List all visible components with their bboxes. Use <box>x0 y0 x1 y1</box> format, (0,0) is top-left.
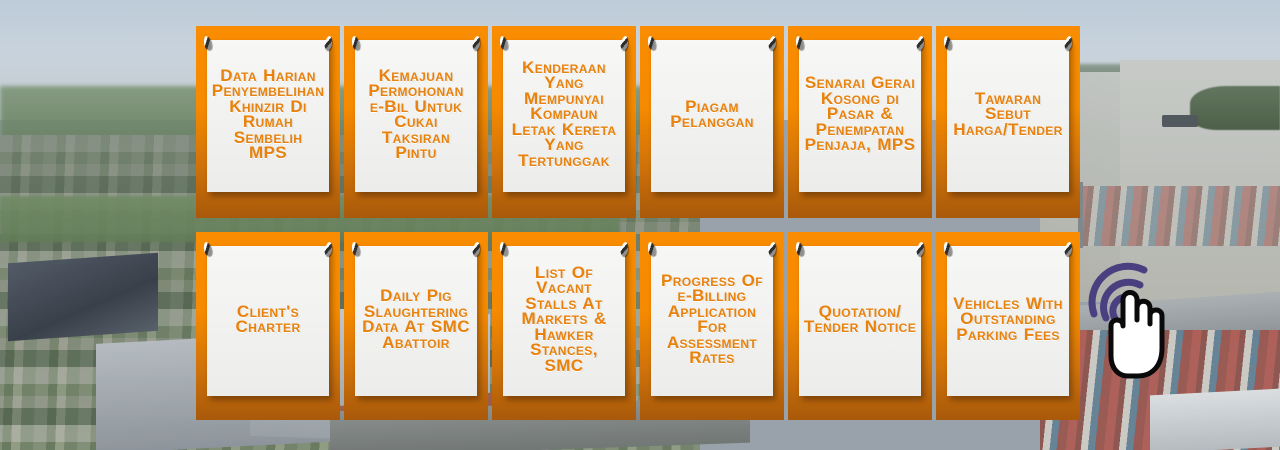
pin-icon <box>768 241 777 256</box>
service-card[interactable]: Kemajuan Permohonan e-Bil Untuk Cukai Ta… <box>344 26 488 218</box>
service-card[interactable]: List Of Vacant Stalls At Markets & Hawke… <box>492 232 636 420</box>
pin-icon <box>498 241 508 256</box>
card-sheet[interactable]: Progress Of e-Billing Application For As… <box>651 246 773 396</box>
card-sheet[interactable]: List Of Vacant Stalls At Markets & Hawke… <box>503 246 625 396</box>
service-card-grid: Data Harian Penyembelihan Khinzir Di Rum… <box>196 26 1080 420</box>
card-label: Quotation/ Tender Notice <box>804 304 916 335</box>
card-sheet[interactable]: Tawaran Sebut Harga/Tender <box>947 40 1069 192</box>
pin-icon <box>472 35 481 50</box>
service-card[interactable]: Quotation/ Tender Notice <box>788 232 932 420</box>
pin-icon <box>620 35 629 50</box>
pin-icon <box>768 35 777 50</box>
card-sheet[interactable]: Piagam Pelanggan <box>651 40 773 192</box>
pin-icon <box>916 241 925 256</box>
service-card[interactable]: Client's Charter <box>196 232 340 420</box>
card-sheet[interactable]: Client's Charter <box>207 246 329 396</box>
pin-icon <box>620 241 629 256</box>
service-card[interactable]: Piagam Pelanggan <box>640 26 784 218</box>
card-sheet[interactable]: Data Harian Penyembelihan Khinzir Di Rum… <box>207 40 329 192</box>
pin-icon <box>1064 241 1073 256</box>
card-sheet[interactable]: Quotation/ Tender Notice <box>799 246 921 396</box>
pin-icon <box>202 35 212 50</box>
card-label: Piagam Pelanggan <box>656 99 768 130</box>
pin-icon <box>324 35 333 50</box>
pin-icon <box>794 35 804 50</box>
card-sheet[interactable]: Vehicles With Outstanding Parking Fees <box>947 246 1069 396</box>
card-label: Daily Pig Slaughtering Data At SMC Abatt… <box>360 288 472 350</box>
card-label: Progress Of e-Billing Application For As… <box>656 273 768 366</box>
pin-icon <box>472 241 481 256</box>
card-label: Kemajuan Permohonan e-Bil Untuk Cukai Ta… <box>360 68 472 161</box>
card-label: List Of Vacant Stalls At Markets & Hawke… <box>508 265 620 374</box>
pin-icon <box>350 241 360 256</box>
service-card[interactable]: Vehicles With Outstanding Parking Fees <box>936 232 1080 420</box>
card-label: Data Harian Penyembelihan Khinzir Di Rum… <box>212 68 325 161</box>
pin-icon <box>942 35 952 50</box>
pin-icon <box>916 35 925 50</box>
pin-icon <box>324 241 333 256</box>
service-card[interactable]: Daily Pig Slaughtering Data At SMC Abatt… <box>344 232 488 420</box>
card-label: Senarai Gerai Kosong di Pasar & Penempat… <box>804 75 916 153</box>
card-sheet[interactable]: Kemajuan Permohonan e-Bil Untuk Cukai Ta… <box>355 40 477 192</box>
pin-icon <box>202 241 212 256</box>
card-sheet[interactable]: Senarai Gerai Kosong di Pasar & Penempat… <box>799 40 921 192</box>
pin-icon <box>646 241 656 256</box>
card-sheet[interactable]: Daily Pig Slaughtering Data At SMC Abatt… <box>355 246 477 396</box>
service-card[interactable]: Data Harian Penyembelihan Khinzir Di Rum… <box>196 26 340 218</box>
card-label: Client's Charter <box>212 304 324 335</box>
card-label: Vehicles With Outstanding Parking Fees <box>952 296 1064 343</box>
pin-icon <box>498 35 508 50</box>
pin-icon <box>942 241 952 256</box>
card-label: Tawaran Sebut Harga/Tender <box>952 91 1064 138</box>
service-card[interactable]: Kenderaan Yang Mempunyai Kompaun Letak K… <box>492 26 636 218</box>
pin-icon <box>794 241 804 256</box>
service-card[interactable]: Progress Of e-Billing Application For As… <box>640 232 784 420</box>
pin-icon <box>646 35 656 50</box>
card-sheet[interactable]: Kenderaan Yang Mempunyai Kompaun Letak K… <box>503 40 625 192</box>
service-card[interactable]: Senarai Gerai Kosong di Pasar & Penempat… <box>788 26 932 218</box>
service-card[interactable]: Tawaran Sebut Harga/Tender <box>936 26 1080 218</box>
pin-icon <box>350 35 360 50</box>
pin-icon <box>1064 35 1073 50</box>
card-label: Kenderaan Yang Mempunyai Kompaun Letak K… <box>508 60 620 169</box>
